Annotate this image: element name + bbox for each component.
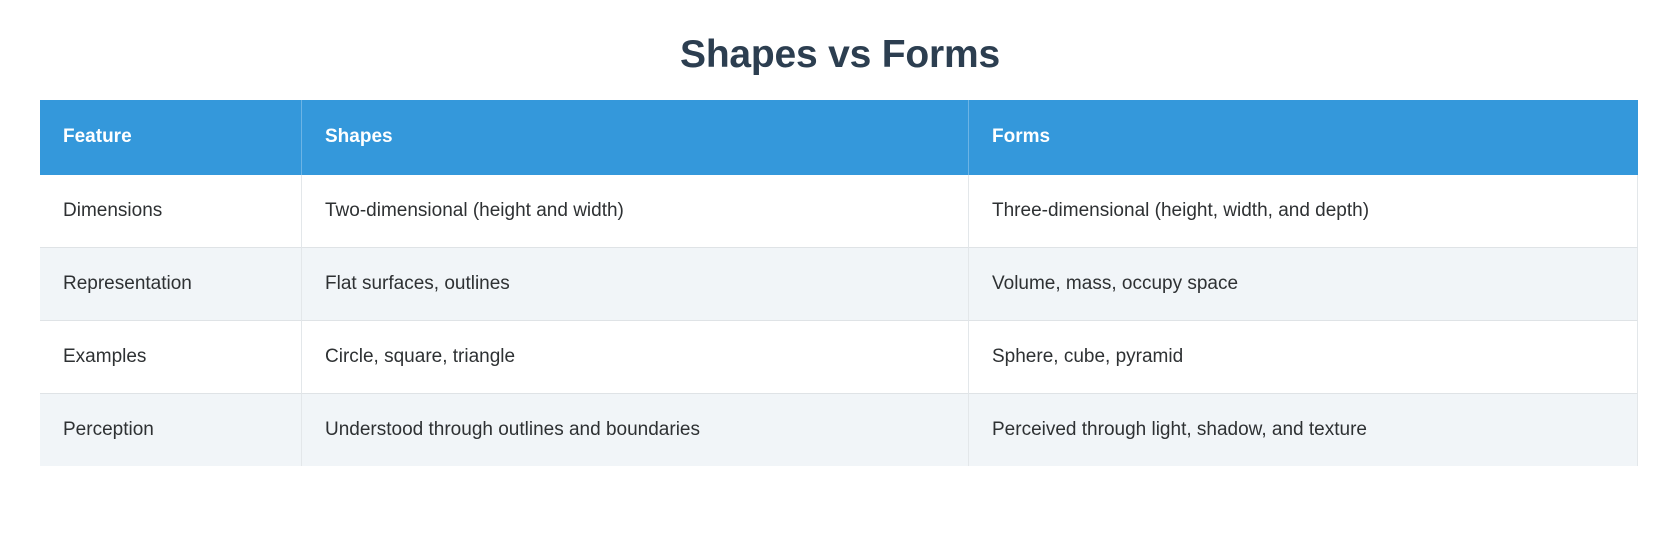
cell-shapes: Flat surfaces, outlines — [302, 248, 969, 321]
page-root: Shapes vs Forms Feature Shapes Forms Dim… — [0, 0, 1680, 548]
table-row: Perception Understood through outlines a… — [40, 394, 1638, 466]
cell-feature: Dimensions — [40, 175, 302, 248]
page-title: Shapes vs Forms — [0, 29, 1680, 81]
cell-forms: Perceived through light, shadow, and tex… — [969, 394, 1638, 466]
cell-feature: Perception — [40, 394, 302, 466]
cell-feature: Examples — [40, 321, 302, 394]
table-row: Dimensions Two-dimensional (height and w… — [40, 175, 1638, 248]
cell-forms: Three-dimensional (height, width, and de… — [969, 175, 1638, 248]
table-row: Representation Flat surfaces, outlines V… — [40, 248, 1638, 321]
cell-shapes: Understood through outlines and boundari… — [302, 394, 969, 466]
table-body: Dimensions Two-dimensional (height and w… — [40, 175, 1638, 466]
cell-feature: Representation — [40, 248, 302, 321]
table-header: Feature Shapes Forms — [40, 100, 1638, 175]
column-header-feature[interactable]: Feature — [40, 100, 302, 175]
comparison-table-container: Feature Shapes Forms Dimensions Two-dime… — [40, 100, 1638, 466]
table-header-row: Feature Shapes Forms — [40, 100, 1638, 175]
column-header-shapes[interactable]: Shapes — [302, 100, 969, 175]
cell-forms: Sphere, cube, pyramid — [969, 321, 1638, 394]
cell-forms: Volume, mass, occupy space — [969, 248, 1638, 321]
comparison-table: Feature Shapes Forms Dimensions Two-dime… — [40, 100, 1638, 466]
table-row: Examples Circle, square, triangle Sphere… — [40, 321, 1638, 394]
cell-shapes: Circle, square, triangle — [302, 321, 969, 394]
column-header-forms[interactable]: Forms — [969, 100, 1638, 175]
cell-shapes: Two-dimensional (height and width) — [302, 175, 969, 248]
